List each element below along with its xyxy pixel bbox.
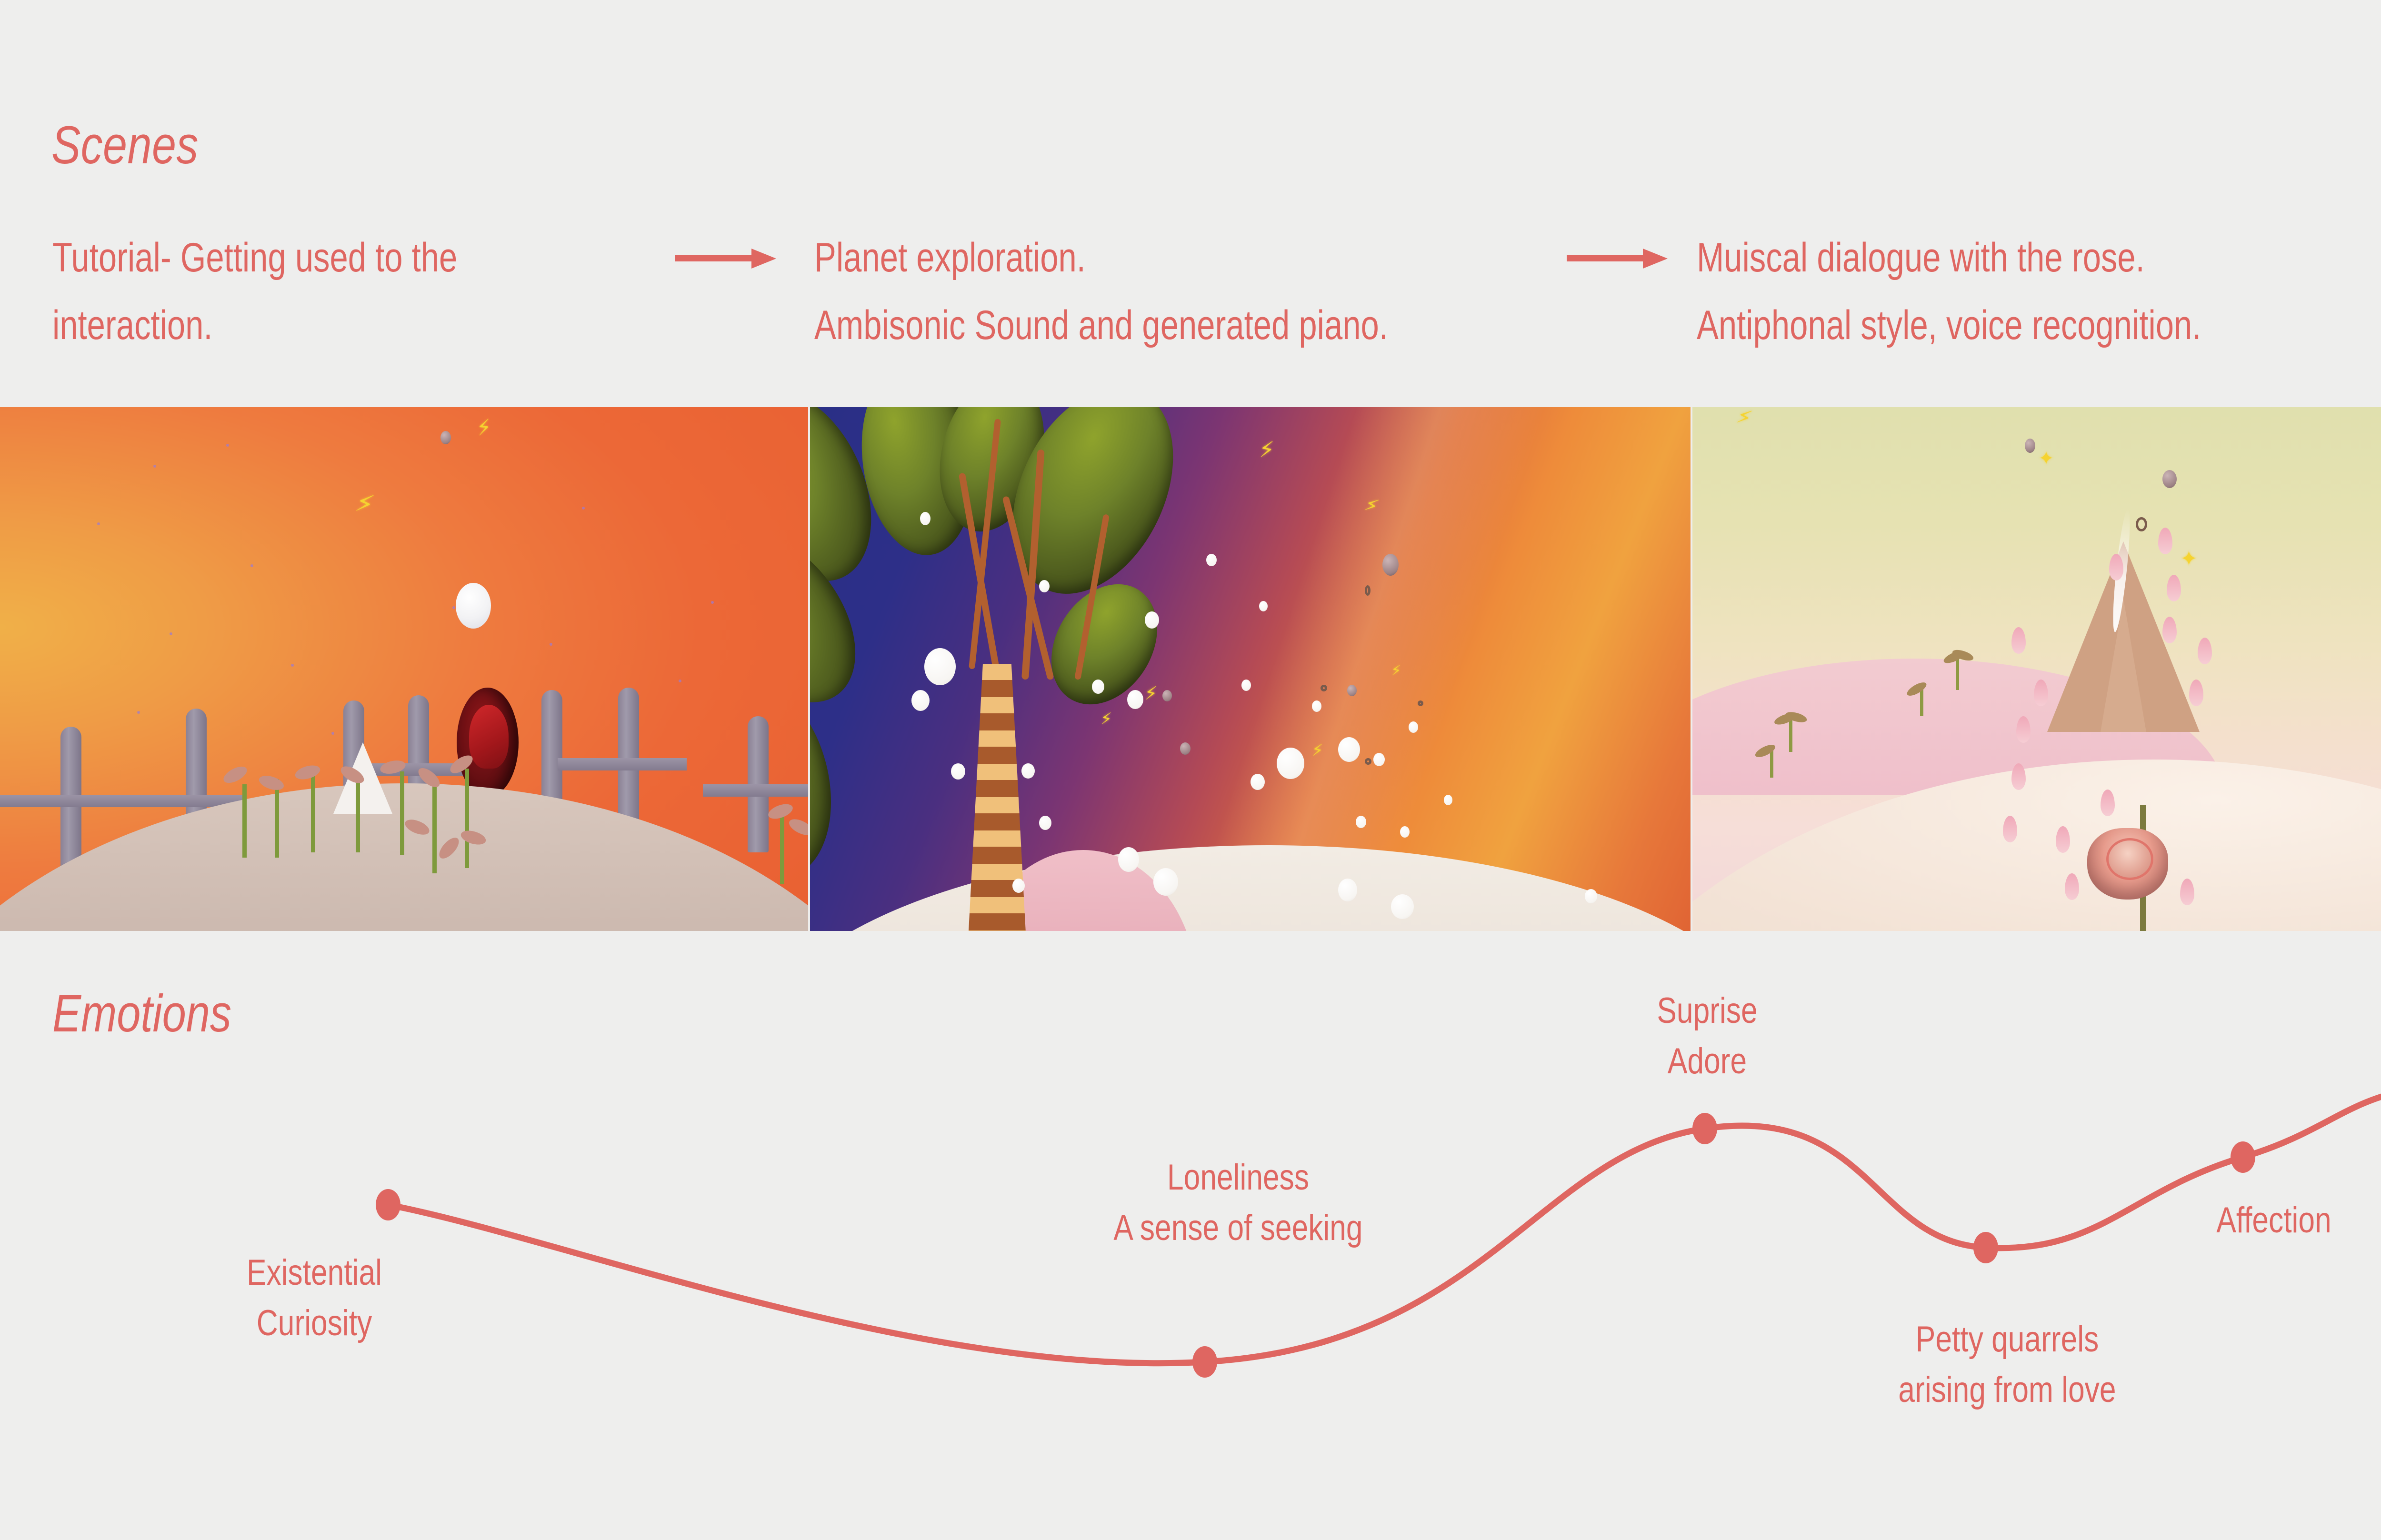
scene-panel-3[interactable]: ✦ ✦ ⚡	[1692, 407, 2381, 931]
emotion-point-loneliness[interactable]	[1192, 1346, 1217, 1378]
scene-step-2-line2: Ambisonic Sound and generated piano.	[814, 291, 1500, 359]
panel-3-rose	[2087, 828, 2168, 900]
emotion-point-suprise-adore[interactable]	[1692, 1113, 1717, 1144]
emotion-label-line: arising from love	[1898, 1365, 2116, 1415]
scene-step-1-line1: Tutorial- Getting used to the	[52, 224, 521, 291]
scene-panel-1[interactable]: ⚡ ⚡	[0, 407, 808, 931]
emotion-label-affection: Affection	[2216, 1195, 2331, 1246]
scene-step-3-line2: Antiphonal style, voice recognition.	[1697, 291, 2381, 359]
emotion-label-suprise-adore: SupriseAdore	[1657, 986, 1757, 1087]
scene-step-3-text: Muiscal dialogue with the rose. Antiphon…	[1697, 224, 2381, 359]
scene-image-strip: ⚡ ⚡	[0, 407, 2381, 931]
scene-step-1-line2: interaction.	[52, 291, 521, 359]
scene-step-2-text: Planet exploration. Ambisonic Sound and …	[814, 224, 1671, 359]
emotion-label-existential-curiosity: ExistentialCuriosity	[247, 1248, 382, 1349]
emotion-label-line: A sense of seeking	[1113, 1203, 1362, 1253]
emotion-label-loneliness: LonelinessA sense of seeking	[1113, 1152, 1362, 1253]
emotion-label-line: Petty quarrels	[1898, 1314, 2116, 1365]
scene-step-1-text: Tutorial- Getting used to the interactio…	[52, 224, 638, 359]
scenes-section: Scenes Tutorial- Getting used to the int…	[0, 0, 2381, 407]
emotion-label-line: Suprise	[1657, 986, 1757, 1036]
emotion-point-affection[interactable]	[2231, 1141, 2255, 1173]
arrow-right-icon-2	[1567, 249, 1671, 268]
emotion-label-line: Curiosity	[247, 1298, 382, 1349]
panel-1-moon	[456, 583, 491, 629]
scene-step-3-line1: Muiscal dialogue with the rose.	[1697, 224, 2381, 291]
scene-panel-2[interactable]: ⚡ ⚡ ⚡ ⚡ ⚡ ⚡ ⚡	[810, 407, 1691, 931]
emotion-label-line: Adore	[1657, 1036, 1757, 1087]
emotion-label-line: Affection	[2216, 1195, 2331, 1246]
scene-step-2-line1: Planet exploration.	[814, 224, 1500, 291]
scenes-heading: Scenes	[51, 114, 199, 176]
arrow-right-icon-1	[675, 249, 780, 268]
emotions-section: Emotions ExistentialCuriosityLonelinessA…	[0, 931, 2381, 1540]
emotion-point-existential-curiosity[interactable]	[376, 1189, 400, 1220]
emotion-label-line: Existential	[247, 1248, 382, 1298]
emotion-point-petty-quarrels[interactable]	[1973, 1232, 1998, 1263]
emotion-label-line: Loneliness	[1113, 1152, 1362, 1203]
emotion-label-petty-quarrels: Petty quarrelsarising from love	[1898, 1314, 2116, 1415]
